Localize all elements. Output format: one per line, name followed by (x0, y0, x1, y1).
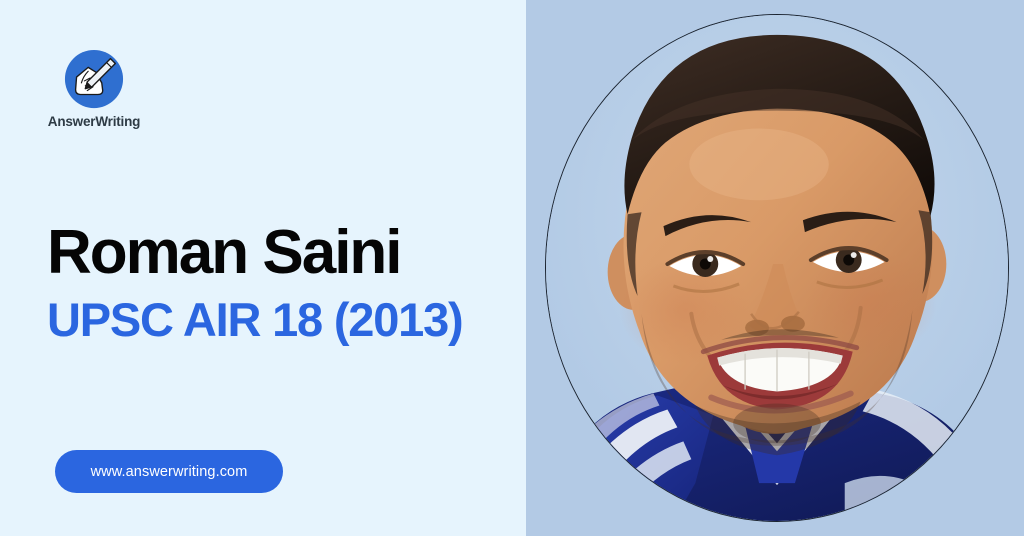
portrait-circle-frame (545, 14, 1009, 522)
page-title: Roman Saini (47, 222, 401, 284)
promo-banner: AnswerWriting Roman Saini UPSC AIR 18 (2… (0, 0, 1024, 536)
rank-subtitle: UPSC AIR 18 (2013) (47, 296, 463, 343)
right-image-panel (526, 0, 1024, 536)
website-url-button[interactable]: www.answerwriting.com (55, 450, 283, 493)
left-content-panel: AnswerWriting Roman Saini UPSC AIR 18 (2… (0, 0, 526, 536)
hand-writing-pencil-icon (63, 48, 125, 110)
portrait-photo (546, 15, 1008, 521)
brand-logo[interactable]: AnswerWriting (46, 48, 142, 136)
website-url-label: www.answerwriting.com (91, 464, 248, 480)
brand-wordmark: AnswerWriting (46, 114, 142, 129)
